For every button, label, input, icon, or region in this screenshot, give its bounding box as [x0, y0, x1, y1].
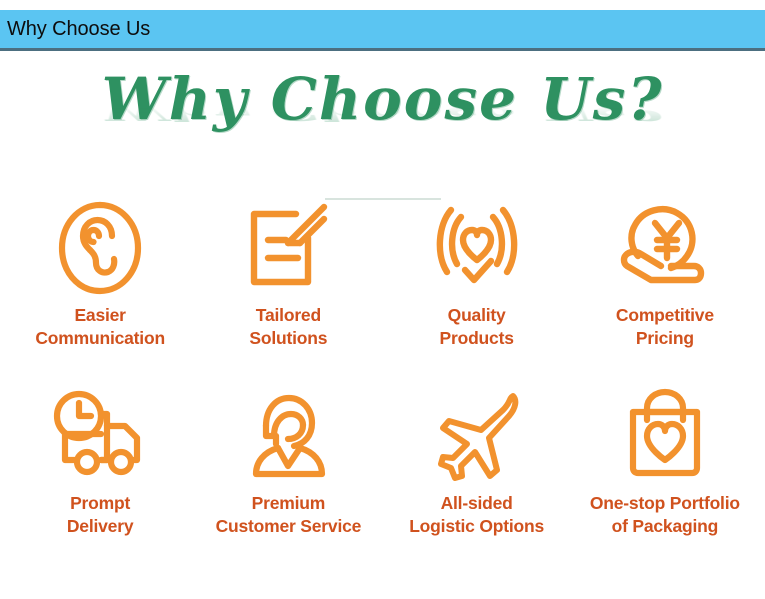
document-pencil-icon [238, 194, 338, 302]
feature-item-one-stop-portfolio-of-packaging[interactable]: One-stop Portfolio of Packaging [571, 382, 759, 570]
feature-label: Premium Customer Service [216, 492, 362, 538]
feature-item-all-sided-logistic-options[interactable]: All-sided Logistic Options [383, 382, 571, 570]
feature-item-premium-customer-service[interactable]: Premium Customer Service [194, 382, 382, 570]
feature-label: Prompt Delivery [67, 492, 134, 538]
feature-item-easier-communication[interactable]: Easier Communication [6, 194, 194, 382]
window-header-bar: Why Choose Us [0, 10, 765, 51]
feature-grid: Easier Communication Tailored Solutions [0, 170, 765, 570]
page-content: Why Choose Us? Why Choose Us? Easier Com… [0, 54, 765, 599]
airplane-icon [427, 382, 527, 490]
heart-check-signal-icon [427, 194, 527, 302]
ear-listening-icon [52, 194, 148, 302]
feature-label: Tailored Solutions [249, 304, 327, 350]
feature-label: Quality Products [440, 304, 514, 350]
hand-coin-yen-icon [613, 194, 717, 302]
feature-item-tailored-solutions[interactable]: Tailored Solutions [194, 194, 382, 382]
window-title: Why Choose Us [0, 18, 150, 41]
feature-label: Competitive Pricing [616, 304, 714, 350]
hero-banner: Why Choose Us? Why Choose Us? [0, 58, 765, 170]
feature-item-prompt-delivery[interactable]: Prompt Delivery [6, 382, 194, 570]
feature-item-quality-products[interactable]: Quality Products [383, 194, 571, 382]
feature-label: All-sided Logistic Options [409, 492, 544, 538]
delivery-truck-clock-icon [47, 382, 153, 490]
title-divider [325, 198, 441, 200]
feature-label: Easier Communication [35, 304, 165, 350]
feature-item-competitive-pricing[interactable]: Competitive Pricing [571, 194, 759, 382]
feature-label: One-stop Portfolio of Packaging [590, 492, 740, 538]
page-title-reflection: Why Choose Us? [0, 98, 765, 124]
headset-agent-icon [238, 382, 338, 490]
shopping-bag-heart-icon [615, 382, 715, 490]
